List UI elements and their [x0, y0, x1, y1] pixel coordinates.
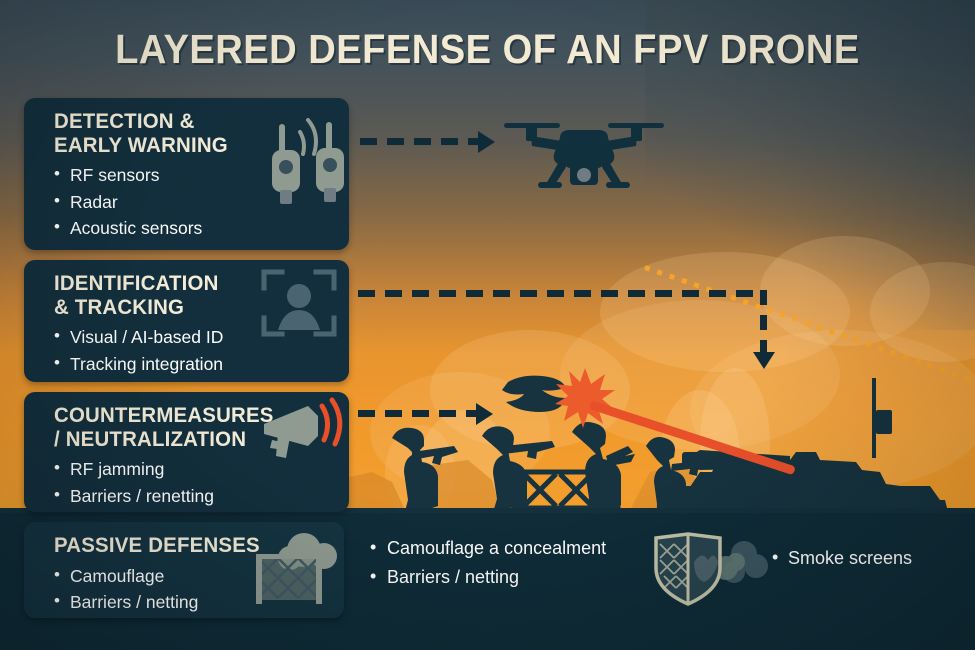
infographic-canvas: LAYERED DEFENSE OF AN FPV DRONE DETECTIO…: [0, 0, 975, 650]
vignette-overlay: [0, 0, 975, 650]
